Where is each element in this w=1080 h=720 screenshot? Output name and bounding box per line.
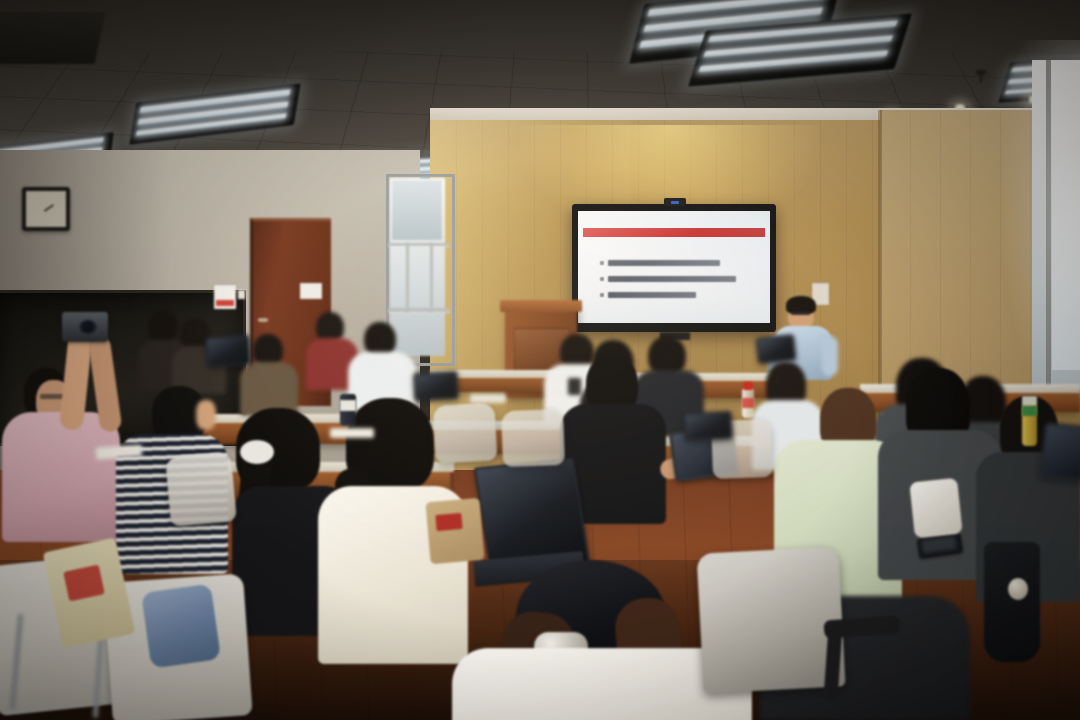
attendee-head xyxy=(148,310,178,344)
laptop-back-row[interactable] xyxy=(683,411,732,441)
left-window-upper-pane xyxy=(392,180,442,240)
black-backpack xyxy=(984,542,1040,662)
white-scrunchie xyxy=(240,440,274,464)
bag-charm xyxy=(1008,578,1028,600)
denim-jacket xyxy=(141,583,221,668)
man-with-camera-body xyxy=(2,412,120,542)
lectern-top xyxy=(500,300,582,312)
presenter-glasses-icon xyxy=(791,311,810,315)
bottle-label-green xyxy=(1022,406,1037,416)
screen-reflection xyxy=(578,211,770,323)
window-railing xyxy=(388,243,450,246)
ceiling-air-vent xyxy=(0,12,106,64)
wall-sign-red-text xyxy=(216,300,234,306)
window-railing-post xyxy=(406,243,409,313)
door-notice-sign xyxy=(300,283,322,299)
laptop-back-row[interactable] xyxy=(413,371,458,401)
chair[interactable] xyxy=(501,409,565,467)
chair[interactable] xyxy=(165,451,237,526)
bottle-cap-red xyxy=(743,382,753,390)
chair[interactable] xyxy=(433,402,498,463)
bottle-label xyxy=(742,398,754,408)
thermos-label xyxy=(340,400,356,411)
woman-striped-face xyxy=(196,400,216,430)
bottle-cap xyxy=(1022,396,1037,406)
laptop-back-row[interactable] xyxy=(205,335,251,368)
paper-sheet xyxy=(330,428,374,438)
door-handle-icon[interactable] xyxy=(258,318,268,322)
light-switch[interactable] xyxy=(238,290,245,299)
paper-bag-logo xyxy=(435,513,462,531)
right-window-outer-pane xyxy=(1052,70,1080,370)
window-railing xyxy=(388,308,450,312)
paper-bag xyxy=(425,498,484,564)
right-window-mullion xyxy=(1046,60,1051,390)
tablet-far-right[interactable] xyxy=(1039,422,1080,482)
presenter-arm xyxy=(822,336,838,376)
white-plastic-bag xyxy=(909,478,963,539)
camera-status-led xyxy=(671,201,679,204)
photo-scene xyxy=(0,0,1080,720)
presenter-laptop[interactable] xyxy=(756,334,797,364)
wall-clock-icon xyxy=(22,187,70,231)
slide-content xyxy=(578,211,770,323)
window-railing-post xyxy=(430,243,433,313)
paper-sheet xyxy=(470,394,506,403)
ceiling-sensor xyxy=(976,70,986,75)
office-chair[interactable] xyxy=(696,546,845,693)
camera-device[interactable] xyxy=(62,312,108,342)
shirt-letter-r-graphic xyxy=(568,378,581,395)
